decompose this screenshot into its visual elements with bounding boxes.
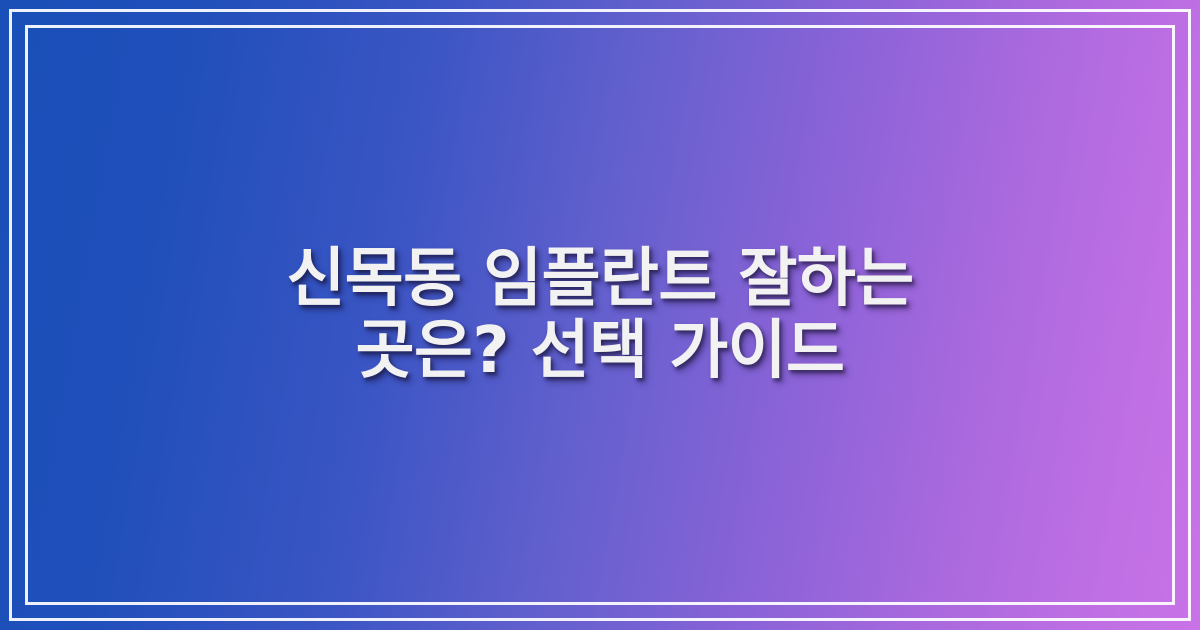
promo-banner: 신목동 임플란트 잘하는 곳은? 선택 가이드 bbox=[0, 0, 1200, 630]
banner-title: 신목동 임플란트 잘하는 곳은? 선택 가이드 bbox=[286, 243, 913, 387]
title-container: 신목동 임플란트 잘하는 곳은? 선택 가이드 bbox=[0, 0, 1200, 630]
banner-title-line-1: 신목동 임플란트 잘하는 bbox=[286, 243, 913, 315]
banner-title-line-2: 곳은? 선택 가이드 bbox=[286, 315, 913, 387]
